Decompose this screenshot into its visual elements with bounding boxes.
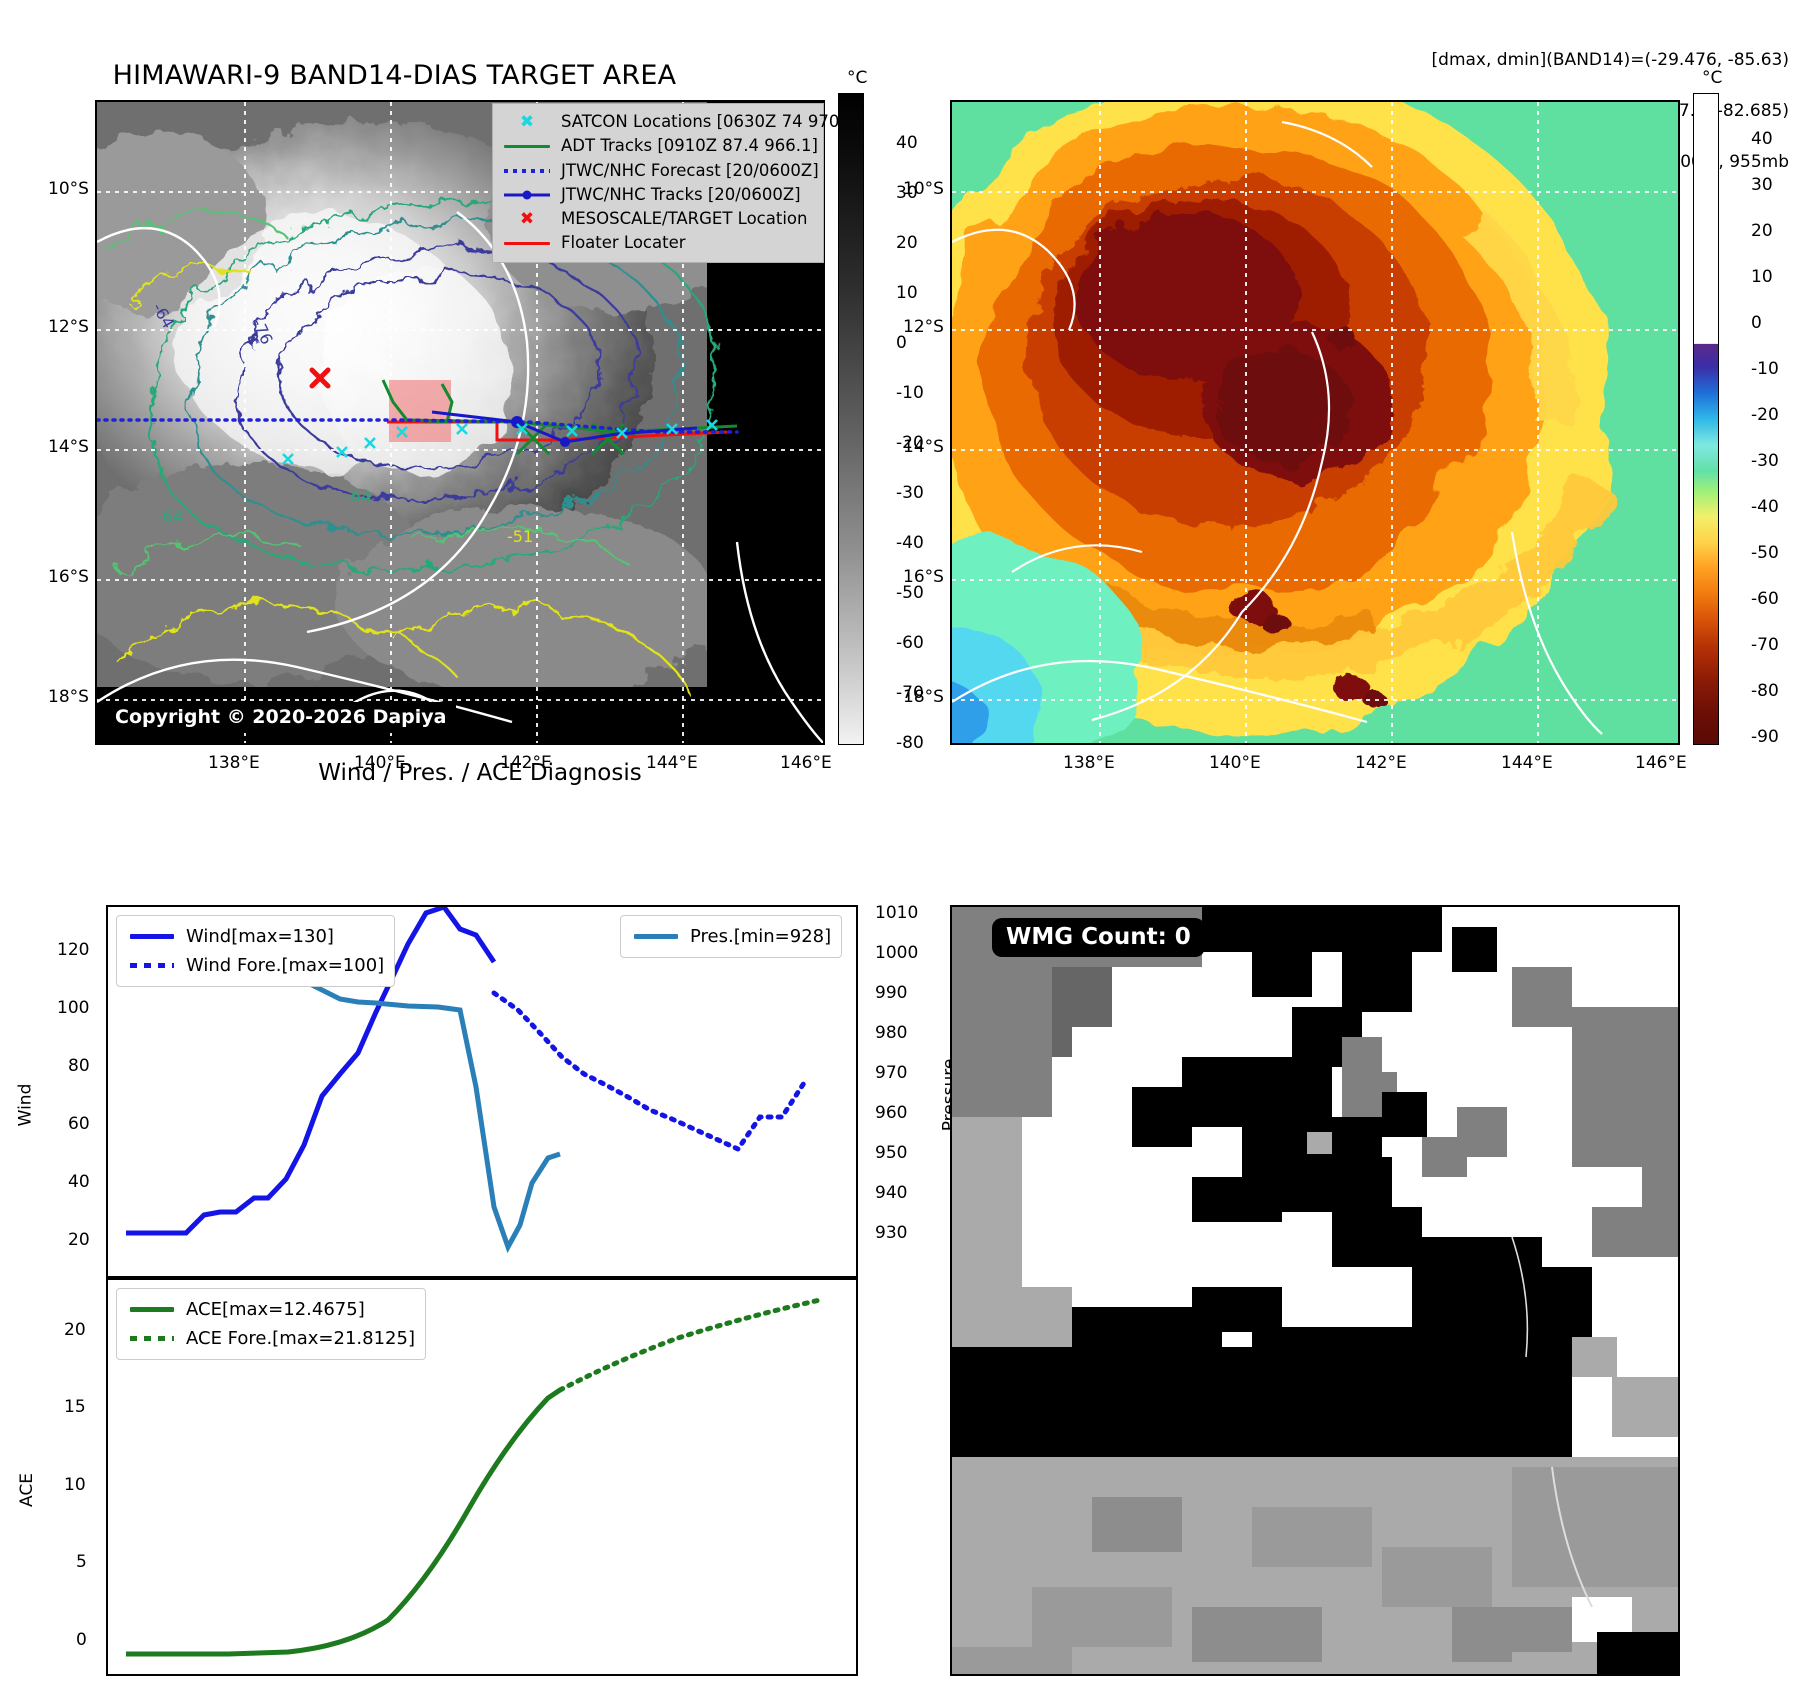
cb-right-tick-m20: -20 [1751, 405, 1779, 425]
legend-label-satcon: SATCON Locations [0630Z 74 970] [561, 110, 846, 134]
cb-left-tick-40: 40 [896, 133, 918, 153]
wind-legend: Wind[max=130] Wind Fore.[max=100] [116, 915, 395, 987]
ace-tick-5: 5 [76, 1552, 87, 1572]
wind-tick-20: 20 [68, 1230, 90, 1250]
ir-lat-tick-12s: 12°S [48, 317, 89, 337]
pressure-tick-960: 960 [875, 1103, 907, 1123]
ace-tick-15: 15 [64, 1397, 86, 1417]
ace-tick-10: 10 [64, 1475, 86, 1495]
ir-map-legend: ✖ SATCON Locations [0630Z 74 970] ADT Tr… [492, 103, 824, 263]
satcon-x-icon: ✖ [501, 114, 553, 131]
pressure-tick-930: 930 [875, 1223, 907, 1243]
pressure-tick-1000: 1000 [875, 943, 918, 963]
pressure-tick-1010: 1010 [875, 903, 918, 923]
cb-left-tick-m60: -60 [896, 633, 924, 653]
legend-item-mesoscale: ✖ MESOSCALE/TARGET Location [501, 207, 813, 231]
colorbar-left [838, 93, 864, 745]
ir-lat-tick-14s: 14°S [48, 437, 89, 457]
floater-line-icon [501, 242, 553, 245]
contour-label-64b: -64 [157, 507, 183, 526]
legend-item-floater: Floater Locater [501, 231, 813, 255]
copyright-notice: Copyright © 2020-2026 Dapiya [105, 702, 456, 733]
awv-map-imagery [952, 102, 1680, 745]
legend-item-jtwc-forecast: JTWC/NHC Forecast [20/0600Z] [501, 159, 813, 183]
cb-left-tick-m30: -30 [896, 483, 924, 503]
cb-right-tick-m10: -10 [1751, 359, 1779, 379]
awv-lon-tick-138e: 138°E [1063, 753, 1115, 773]
ace-observed-line [126, 1390, 560, 1654]
ace-axis-label: ACE [17, 1473, 37, 1507]
wind-line-icon [127, 934, 177, 939]
awv-lat-tick-14s: 14°S [903, 437, 944, 457]
wind-tick-80: 80 [68, 1056, 90, 1076]
cb-left-tick-10: 10 [896, 283, 918, 303]
legend-item-jtwc-tracks: JTWC/NHC Tracks [20/0600Z] [501, 183, 813, 207]
legend-label-mesoscale: MESOSCALE/TARGET Location [561, 207, 807, 231]
legend-item-satcon: ✖ SATCON Locations [0630Z 74 970] [501, 110, 813, 134]
contour-label-64c: -64 [345, 487, 371, 506]
awv-lon-tick-146e: 146°E [1635, 753, 1687, 773]
colorbar-right-ticks: 40 30 20 10 0 -10 -20 -30 -40 -50 -60 -7… [1721, 93, 1797, 745]
pressure-tick-950: 950 [875, 1143, 907, 1163]
wind-tick-100: 100 [57, 998, 89, 1018]
cb-right-tick-m70: -70 [1751, 635, 1779, 655]
legend-item-pressure: Pres.[min=928] [631, 923, 831, 950]
cb-right-tick-20: 20 [1751, 221, 1773, 241]
colorbar-left-unit: °C [847, 68, 867, 88]
pressure-tick-940: 940 [875, 1183, 907, 1203]
cb-right-tick-0: 0 [1751, 313, 1762, 333]
pressure-tick-990: 990 [875, 983, 907, 1003]
awv-lon-tick-144e: 144°E [1501, 753, 1553, 773]
ir-lat-tick-10s: 10°S [48, 179, 89, 199]
legend-label-wind-forecast: Wind Fore.[max=100] [186, 952, 384, 979]
wmg-map-imagery [952, 907, 1680, 1676]
wind-tick-60: 60 [68, 1114, 90, 1134]
pressure-legend: Pres.[min=928] [620, 915, 842, 958]
awv-lon-tick-142e: 142°E [1355, 753, 1407, 773]
legend-label-jtwc-forecast: JTWC/NHC Forecast [20/0600Z] [561, 159, 819, 183]
awv-lat-tick-18s: 18°S [903, 687, 944, 707]
wind-forecast-line [494, 993, 804, 1149]
legend-item-wind-forecast: Wind Fore.[max=100] [127, 952, 384, 979]
cb-left-tick-m80: -80 [896, 733, 924, 753]
legend-label-wind: Wind[max=130] [186, 923, 334, 950]
cb-right-tick-m80: -80 [1751, 681, 1779, 701]
wind-tick-120: 120 [57, 940, 89, 960]
jtwc-forecast-dotted-icon [501, 169, 553, 173]
cb-right-tick-10: 10 [1751, 267, 1773, 287]
ir-lat-tick-18s: 18°S [48, 687, 89, 707]
colorbar-right [1693, 93, 1719, 745]
ace-tick-0: 0 [76, 1630, 87, 1650]
diagnosis-title: Wind / Pres. / ACE Diagnosis [95, 760, 865, 786]
pressure-line-icon [631, 934, 681, 939]
ace-forecast-dotted-icon [127, 1336, 177, 1341]
legend-label-pressure: Pres.[min=928] [690, 923, 831, 950]
cb-left-tick-20: 20 [896, 233, 918, 253]
jtwc-track-line-dot-icon [501, 190, 553, 200]
cb-right-tick-40: 40 [1751, 129, 1773, 149]
ace-tick-20: 20 [64, 1320, 86, 1340]
cb-right-tick-30: 30 [1751, 175, 1773, 195]
ace-legend: ACE[max=12.4675] ACE Fore.[max=21.8125] [116, 1288, 426, 1360]
cb-left-tick-m10: -10 [896, 383, 924, 403]
ace-line-icon [127, 1307, 177, 1312]
legend-item-adt: ADT Tracks [0910Z 87.4 966.1] [501, 134, 813, 158]
awv-lat-tick-16s: 16°S [903, 567, 944, 587]
cb-right-tick-m50: -50 [1751, 543, 1779, 563]
cb-right-tick-m40: -40 [1751, 497, 1779, 517]
awv-enhanced-map[interactable] [950, 100, 1680, 745]
contour-label-51: -51 [507, 527, 533, 546]
awv-lat-tick-10s: 10°S [903, 179, 944, 199]
header-info-band14: [dmax, dmin](BAND14)=(-29.476, -85.63) [1432, 50, 1789, 70]
legend-label-jtwc-tracks: JTWC/NHC Tracks [20/0600Z] [561, 183, 801, 207]
cb-right-tick-m90: -90 [1751, 727, 1779, 747]
cb-right-tick-m60: -60 [1751, 589, 1779, 609]
ace-forecast-line [560, 1300, 820, 1390]
pressure-tick-980: 980 [875, 1023, 907, 1043]
legend-item-wind: Wind[max=130] [127, 923, 384, 950]
legend-item-ace: ACE[max=12.4675] [127, 1296, 415, 1323]
legend-label-ace-forecast: ACE Fore.[max=21.8125] [186, 1325, 415, 1352]
mesoscale-x-icon: ✖ [501, 211, 553, 228]
adt-line-icon [501, 145, 553, 148]
colorbar-right-unit: °C [1702, 68, 1722, 88]
awv-lat-tick-12s: 12°S [903, 317, 944, 337]
legend-label-ace: ACE[max=12.4675] [186, 1296, 365, 1323]
pressure-tick-970: 970 [875, 1063, 907, 1083]
wmg-count-badge: WMG Count: 0 [992, 918, 1205, 957]
legend-item-ace-forecast: ACE Fore.[max=21.8125] [127, 1325, 415, 1352]
legend-label-floater: Floater Locater [561, 231, 686, 255]
ir-lat-tick-16s: 16°S [48, 567, 89, 587]
wind-forecast-dotted-icon [127, 963, 177, 968]
wmg-classification-map[interactable] [950, 905, 1680, 1676]
cb-right-tick-m30: -30 [1751, 451, 1779, 471]
cb-left-tick-m40: -40 [896, 533, 924, 553]
wind-axis-label: Wind [15, 1084, 35, 1127]
legend-label-adt: ADT Tracks [0910Z 87.4 966.1] [561, 134, 818, 158]
wind-tick-40: 40 [68, 1172, 90, 1192]
awv-lon-tick-140e: 140°E [1209, 753, 1261, 773]
page-title-line1: HIMAWARI-9 BAND14-DIAS TARGET AREA [113, 60, 677, 91]
